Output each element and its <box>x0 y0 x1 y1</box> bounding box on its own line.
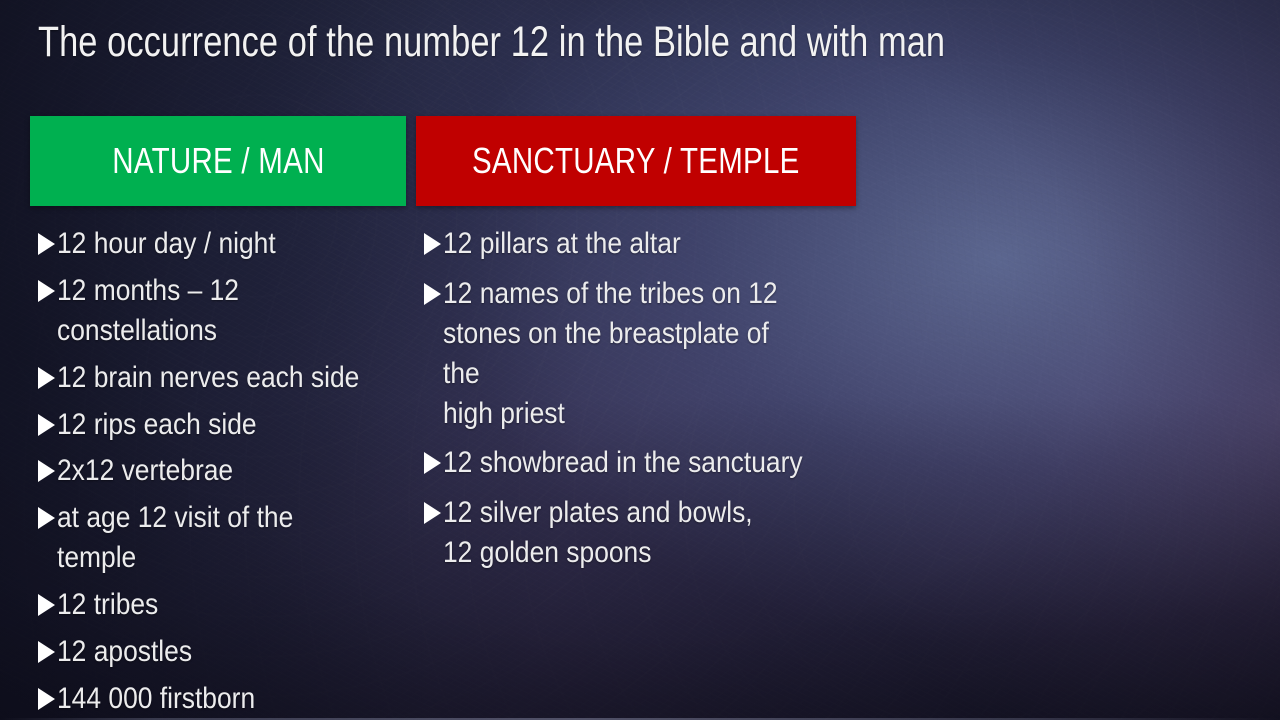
slide-content: The occurrence of the number 12 in the B… <box>0 0 1280 720</box>
list-item-label: 12 rips each side <box>57 405 257 445</box>
column-header-sanctuary-temple: SANCTUARY / TEMPLE <box>416 116 856 206</box>
list-item-label: 144 000 firstborn <box>57 679 255 719</box>
triangle-right-icon <box>38 594 55 616</box>
list-item: 12 pillars at the altar <box>424 224 854 264</box>
list-item-label: 12 names of the tribes on 12 stones on t… <box>443 274 805 434</box>
list-item-label: 12 months – 12 constellations <box>57 271 375 351</box>
triangle-right-icon <box>424 233 441 255</box>
list-item: 12 tribes <box>38 585 418 625</box>
list-item-label: 2x12 vertebrae <box>57 451 233 491</box>
column-headers: NATURE / MAN SANCTUARY / TEMPLE <box>30 116 856 206</box>
list-item: 12 showbread in the sanctuary <box>424 443 854 483</box>
triangle-right-icon <box>38 688 55 710</box>
list-item-label: 12 brain nerves each side <box>57 358 359 398</box>
list-item-label: 12 hour day / night <box>57 224 276 264</box>
list-item: 12 apostles <box>38 632 418 672</box>
triangle-right-icon <box>38 641 55 663</box>
list-item-label: 12 showbread in the sanctuary <box>443 443 803 483</box>
list-item: 12 brain nerves each side <box>38 358 418 398</box>
triangle-right-icon <box>424 283 441 305</box>
presentation-slide: The occurrence of the number 12 in the B… <box>0 0 1280 720</box>
triangle-right-icon <box>38 233 55 255</box>
triangle-right-icon <box>38 280 55 302</box>
triangle-right-icon <box>38 367 55 389</box>
slide-title: The occurrence of the number 12 in the B… <box>38 19 945 65</box>
list-item: 12 silver plates and bowls, 12 golden sp… <box>424 493 854 573</box>
list-item-label: 12 pillars at the altar <box>443 224 681 264</box>
column-header-sanctuary-temple-label: SANCTUARY / TEMPLE <box>472 140 800 182</box>
triangle-right-icon <box>38 414 55 436</box>
list-item: 12 months – 12 constellations <box>38 271 418 351</box>
triangle-right-icon <box>38 460 55 482</box>
column-header-nature-man: NATURE / MAN <box>30 116 406 206</box>
list-item: 2x12 vertebrae <box>38 451 418 491</box>
list-item: 12 hour day / night <box>38 224 418 264</box>
list-item-label: 12 tribes <box>57 585 158 625</box>
triangle-right-icon <box>424 502 441 524</box>
bullet-list-sanctuary-temple: 12 pillars at the altar 12 names of the … <box>424 224 854 583</box>
list-item-label: 12 apostles <box>57 632 192 672</box>
list-item: 12 rips each side <box>38 405 418 445</box>
list-item: at age 12 visit of the temple <box>38 498 418 578</box>
list-item: 144 000 firstborn <box>38 679 418 719</box>
list-item: 12 names of the tribes on 12 stones on t… <box>424 274 854 434</box>
bullet-list-nature-man: 12 hour day / night 12 months – 12 const… <box>38 224 418 720</box>
column-header-nature-man-label: NATURE / MAN <box>112 140 324 182</box>
triangle-right-icon <box>38 507 55 529</box>
triangle-right-icon <box>424 452 441 474</box>
list-item-label: at age 12 visit of the temple <box>57 498 375 578</box>
list-item-label: 12 silver plates and bowls, 12 golden sp… <box>443 493 753 573</box>
